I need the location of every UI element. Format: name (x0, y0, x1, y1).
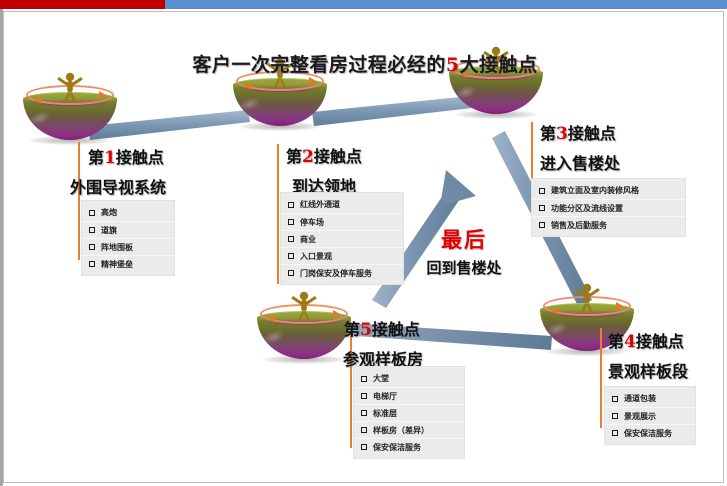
final-step-headline: 最后 (404, 224, 524, 254)
circular-arrow-head-right (309, 77, 316, 85)
list-item[interactable]: 停车场 (281, 213, 403, 230)
tp5-prefix: 第 (344, 320, 360, 339)
touchpoint-label-4: 第4接触点 景观样板段 (608, 328, 688, 382)
title-number: 5 (446, 54, 460, 76)
touchpoint-node-5[interactable] (252, 293, 356, 359)
circular-arrow-head-left (34, 96, 41, 104)
tp5-suffix: 接触点 (372, 320, 420, 339)
hollow-square-bullet-icon (539, 188, 545, 194)
tp2-suffix: 接触点 (314, 147, 362, 166)
touchpoint-label-2: 第2接触点 到达领地 (286, 143, 362, 197)
tp2-prefix: 第 (286, 147, 302, 166)
circular-arrow-head-right (333, 310, 340, 318)
touchpoint-bullets-5: 大堂 电梯厅 标准层 样板房（差异） 保安保洁服务 (353, 366, 465, 459)
touchpoint-bullets-4: 通道包装 景观展示 保安保洁服务 (604, 386, 696, 445)
list-item[interactable]: 入口景观 (281, 247, 403, 264)
touchpoint-bullets-2: 红线外通道 停车场 商业 入口景观 门岗保安及停车服务 (280, 192, 404, 285)
list-item[interactable]: 景观展示 (605, 407, 695, 424)
circular-arrow-head-right (99, 91, 106, 99)
list-item[interactable]: 门岗保安及停车服务 (281, 264, 403, 281)
list-item[interactable]: 商业 (281, 230, 403, 247)
hollow-square-bullet-icon (539, 205, 545, 211)
list-item[interactable]: 道旗 (82, 221, 174, 238)
tp4-prefix: 第 (608, 332, 624, 351)
tp1-suffix: 接触点 (116, 148, 164, 167)
tp4-name: 景观样板段 (608, 358, 688, 382)
tp1-number: 1 (104, 148, 116, 168)
list-item[interactable]: 高炮 (82, 204, 174, 221)
hollow-square-bullet-icon (361, 410, 367, 416)
list-item[interactable]: 功能分区及流线设置 (532, 199, 685, 216)
tp1-prefix: 第 (88, 148, 104, 167)
person-icon (290, 291, 318, 321)
touchpoint-label-5: 第5接触点 参观样板房 (344, 316, 423, 370)
hollow-square-bullet-icon (89, 210, 95, 216)
hollow-square-bullet-icon (288, 236, 294, 242)
page-title: 客户一次完整看房过程必经的5大接触点 (150, 50, 580, 77)
title-before-text: 客户一次完整看房过程必经的 (192, 54, 446, 76)
hollow-square-bullet-icon (361, 444, 367, 450)
hollow-square-bullet-icon (539, 222, 545, 228)
list-item[interactable]: 红线外通道 (281, 196, 403, 213)
person-icon (56, 72, 84, 102)
touchpoint-node-1[interactable] (18, 74, 122, 140)
hollow-square-bullet-icon (288, 202, 294, 208)
circular-arrow-head-right (616, 302, 623, 310)
tp3-prefix: 第 (540, 124, 556, 143)
connector-line-4 (600, 328, 602, 428)
tp4-suffix: 接触点 (636, 332, 684, 351)
touchpoint-bullets-1: 高炮 道旗 阵地围板 精神堡垒 (81, 200, 175, 276)
hollow-square-bullet-icon (89, 261, 95, 267)
hollow-square-bullet-icon (361, 393, 367, 399)
connector-line-2 (277, 144, 279, 284)
circular-arrow-head-left (551, 307, 558, 315)
hollow-square-bullet-icon (612, 413, 618, 419)
list-item[interactable]: 建筑立面及室内装修风格 (532, 182, 685, 199)
list-item[interactable]: 精神堡垒 (82, 255, 174, 272)
hollow-square-bullet-icon (89, 244, 95, 250)
touchpoint-label-1: 第1接触点 外围导视系统 (88, 144, 166, 198)
hollow-square-bullet-icon (612, 430, 618, 436)
list-item[interactable]: 标准层 (354, 404, 464, 421)
final-step-subtext: 回到售楼处 (404, 257, 524, 278)
hollow-square-bullet-icon (89, 227, 95, 233)
tp3-name: 进入售楼处 (540, 150, 620, 174)
circular-arrow-head-left (244, 82, 251, 90)
person-icon (573, 283, 601, 313)
connector-line-1 (78, 142, 80, 260)
tp5-number: 5 (360, 320, 372, 340)
tp3-number: 3 (556, 124, 568, 144)
hollow-square-bullet-icon (361, 376, 367, 382)
list-item[interactable]: 通道包装 (605, 390, 695, 407)
list-item[interactable]: 阵地围板 (82, 238, 174, 255)
list-item[interactable]: 保安保洁服务 (354, 438, 464, 455)
circular-arrow-head-left (268, 315, 275, 323)
hollow-square-bullet-icon (288, 270, 294, 276)
tp1-name: 外围导视系统 (70, 174, 166, 198)
list-item[interactable]: 销售及后勤服务 (532, 216, 685, 233)
hollow-square-bullet-icon (361, 427, 367, 433)
hollow-square-bullet-icon (612, 396, 618, 402)
tp3-suffix: 接触点 (568, 124, 616, 143)
title-after-text: 大接触点 (460, 54, 538, 76)
list-item[interactable]: 大堂 (354, 370, 464, 387)
touchpoint-label-3: 第3接触点 进入售楼处 (540, 120, 620, 174)
tp2-number: 2 (302, 147, 314, 167)
hollow-square-bullet-icon (288, 219, 294, 225)
list-item[interactable]: 样板房（差异） (354, 421, 464, 438)
tp4-number: 4 (624, 332, 636, 352)
touchpoint-bullets-3: 建筑立面及室内装修风格 功能分区及流线设置 销售及后勤服务 (531, 178, 686, 237)
list-item[interactable]: 电梯厅 (354, 387, 464, 404)
final-step-note: 最后 回到售楼处 (404, 224, 524, 278)
list-item[interactable]: 保安保洁服务 (605, 424, 695, 441)
hollow-square-bullet-icon (288, 253, 294, 259)
